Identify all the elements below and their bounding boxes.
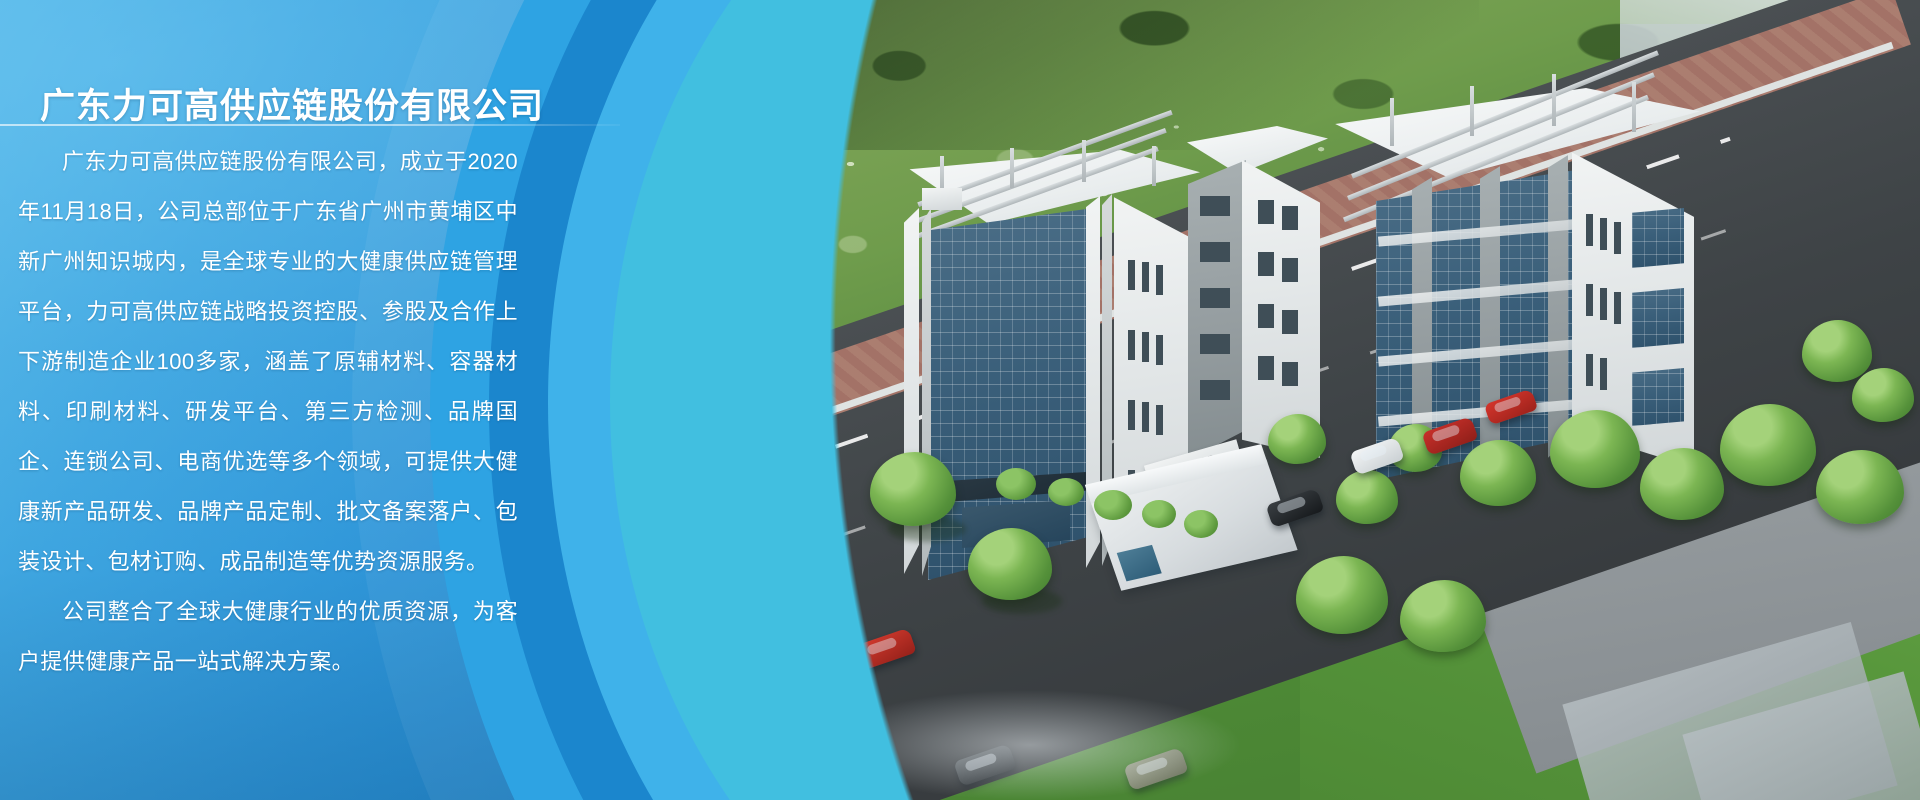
right-roof-post-3	[1552, 74, 1556, 126]
right-return-glass-2	[1632, 288, 1684, 348]
right-return-glass-3	[1632, 368, 1684, 426]
right-facade-pier-2	[1480, 160, 1500, 470]
core-window-3	[1200, 288, 1230, 308]
tree-4	[1336, 470, 1398, 524]
right-window-slot-1	[1586, 214, 1593, 246]
title-divider	[0, 124, 620, 126]
company-profile-banner: 力可高供应链产业园	[0, 0, 1920, 800]
core-window-2	[1200, 242, 1230, 262]
tower-window-slot-8	[1142, 402, 1149, 432]
core-window-8	[1258, 252, 1274, 276]
right-window-slot-3	[1614, 222, 1621, 254]
roof-pergola-post-3	[1082, 140, 1086, 182]
shrub-5	[1184, 510, 1218, 538]
core-window-4	[1200, 334, 1230, 354]
core-right-facade	[1242, 154, 1320, 458]
shrub-4	[1142, 500, 1176, 528]
tower-window-slot-7	[1128, 400, 1135, 430]
tower-window-slot-4	[1128, 330, 1135, 360]
tower-window-slot-3	[1156, 265, 1163, 295]
tree-13	[1802, 320, 1872, 382]
tree-2	[968, 528, 1052, 600]
tree-7	[1550, 410, 1640, 488]
tree-6	[1460, 440, 1536, 506]
tree-8	[1640, 448, 1724, 520]
right-window-slot-8	[1600, 358, 1607, 390]
right-window-slot-4	[1586, 284, 1593, 316]
right-window-slot-5	[1600, 288, 1607, 320]
core-window-13	[1282, 362, 1298, 386]
shrub-3	[1094, 490, 1132, 520]
tower-window-slot-2	[1142, 262, 1149, 292]
right-window-slot-7	[1586, 354, 1593, 386]
core-window-5	[1200, 380, 1230, 400]
page-title: 广东力可高供应链股份有限公司	[40, 78, 544, 129]
core-window-12	[1258, 356, 1274, 380]
tower-window-slot-6	[1156, 335, 1163, 365]
core-window-1	[1200, 196, 1230, 216]
building-block-right	[1320, 88, 1700, 488]
tower-window-slot-9	[1156, 405, 1163, 435]
right-window-slot-2	[1600, 218, 1607, 250]
core-window-11	[1282, 310, 1298, 334]
office-building-photo: 力可高供应链产业园	[760, 0, 1920, 800]
right-roof-post-1	[1390, 98, 1394, 146]
tower-window-slot-5	[1142, 332, 1149, 362]
right-return-glass-1	[1632, 208, 1684, 268]
tree-14	[1852, 368, 1914, 422]
tree-1	[870, 452, 956, 526]
outbuilding-window	[1117, 545, 1162, 582]
tree-9	[1720, 404, 1816, 486]
shrub-1	[996, 468, 1036, 500]
text-column: 广东力可高供应链股份有限公司 广东力可高供应链股份有限公司，成立于2020年11…	[0, 0, 620, 800]
company-description: 广东力可高供应链股份有限公司，成立于2020年11月18日，公司总部位于广东省广…	[18, 137, 518, 687]
tree-10	[1816, 450, 1904, 524]
right-roof-post-2	[1470, 86, 1474, 136]
core-window-10	[1258, 304, 1274, 328]
roof-pergola-post-2	[1010, 148, 1014, 188]
core-window-7	[1282, 206, 1298, 230]
right-roof-post-4	[1632, 82, 1636, 132]
right-facade-pier-3	[1548, 152, 1568, 464]
core-window-9	[1282, 258, 1298, 282]
tree-12	[1400, 580, 1486, 652]
road-haze	[820, 690, 1240, 800]
tree-3	[1268, 414, 1326, 464]
tower-window-slot-1	[1128, 260, 1135, 290]
roof-pergola-post-4	[1152, 146, 1156, 186]
rooftop-equipment	[922, 188, 962, 210]
shrub-2	[1048, 478, 1084, 506]
description-paragraph-1: 广东力可高供应链股份有限公司，成立于2020年11月18日，公司总部位于广东省广…	[18, 137, 518, 587]
right-window-slot-6	[1614, 292, 1621, 324]
description-paragraph-2: 公司整合了全球大健康行业的优质资源，为客户提供健康产品一站式解决方案。	[18, 587, 518, 687]
tree-11	[1296, 556, 1388, 634]
core-window-6	[1258, 200, 1274, 224]
